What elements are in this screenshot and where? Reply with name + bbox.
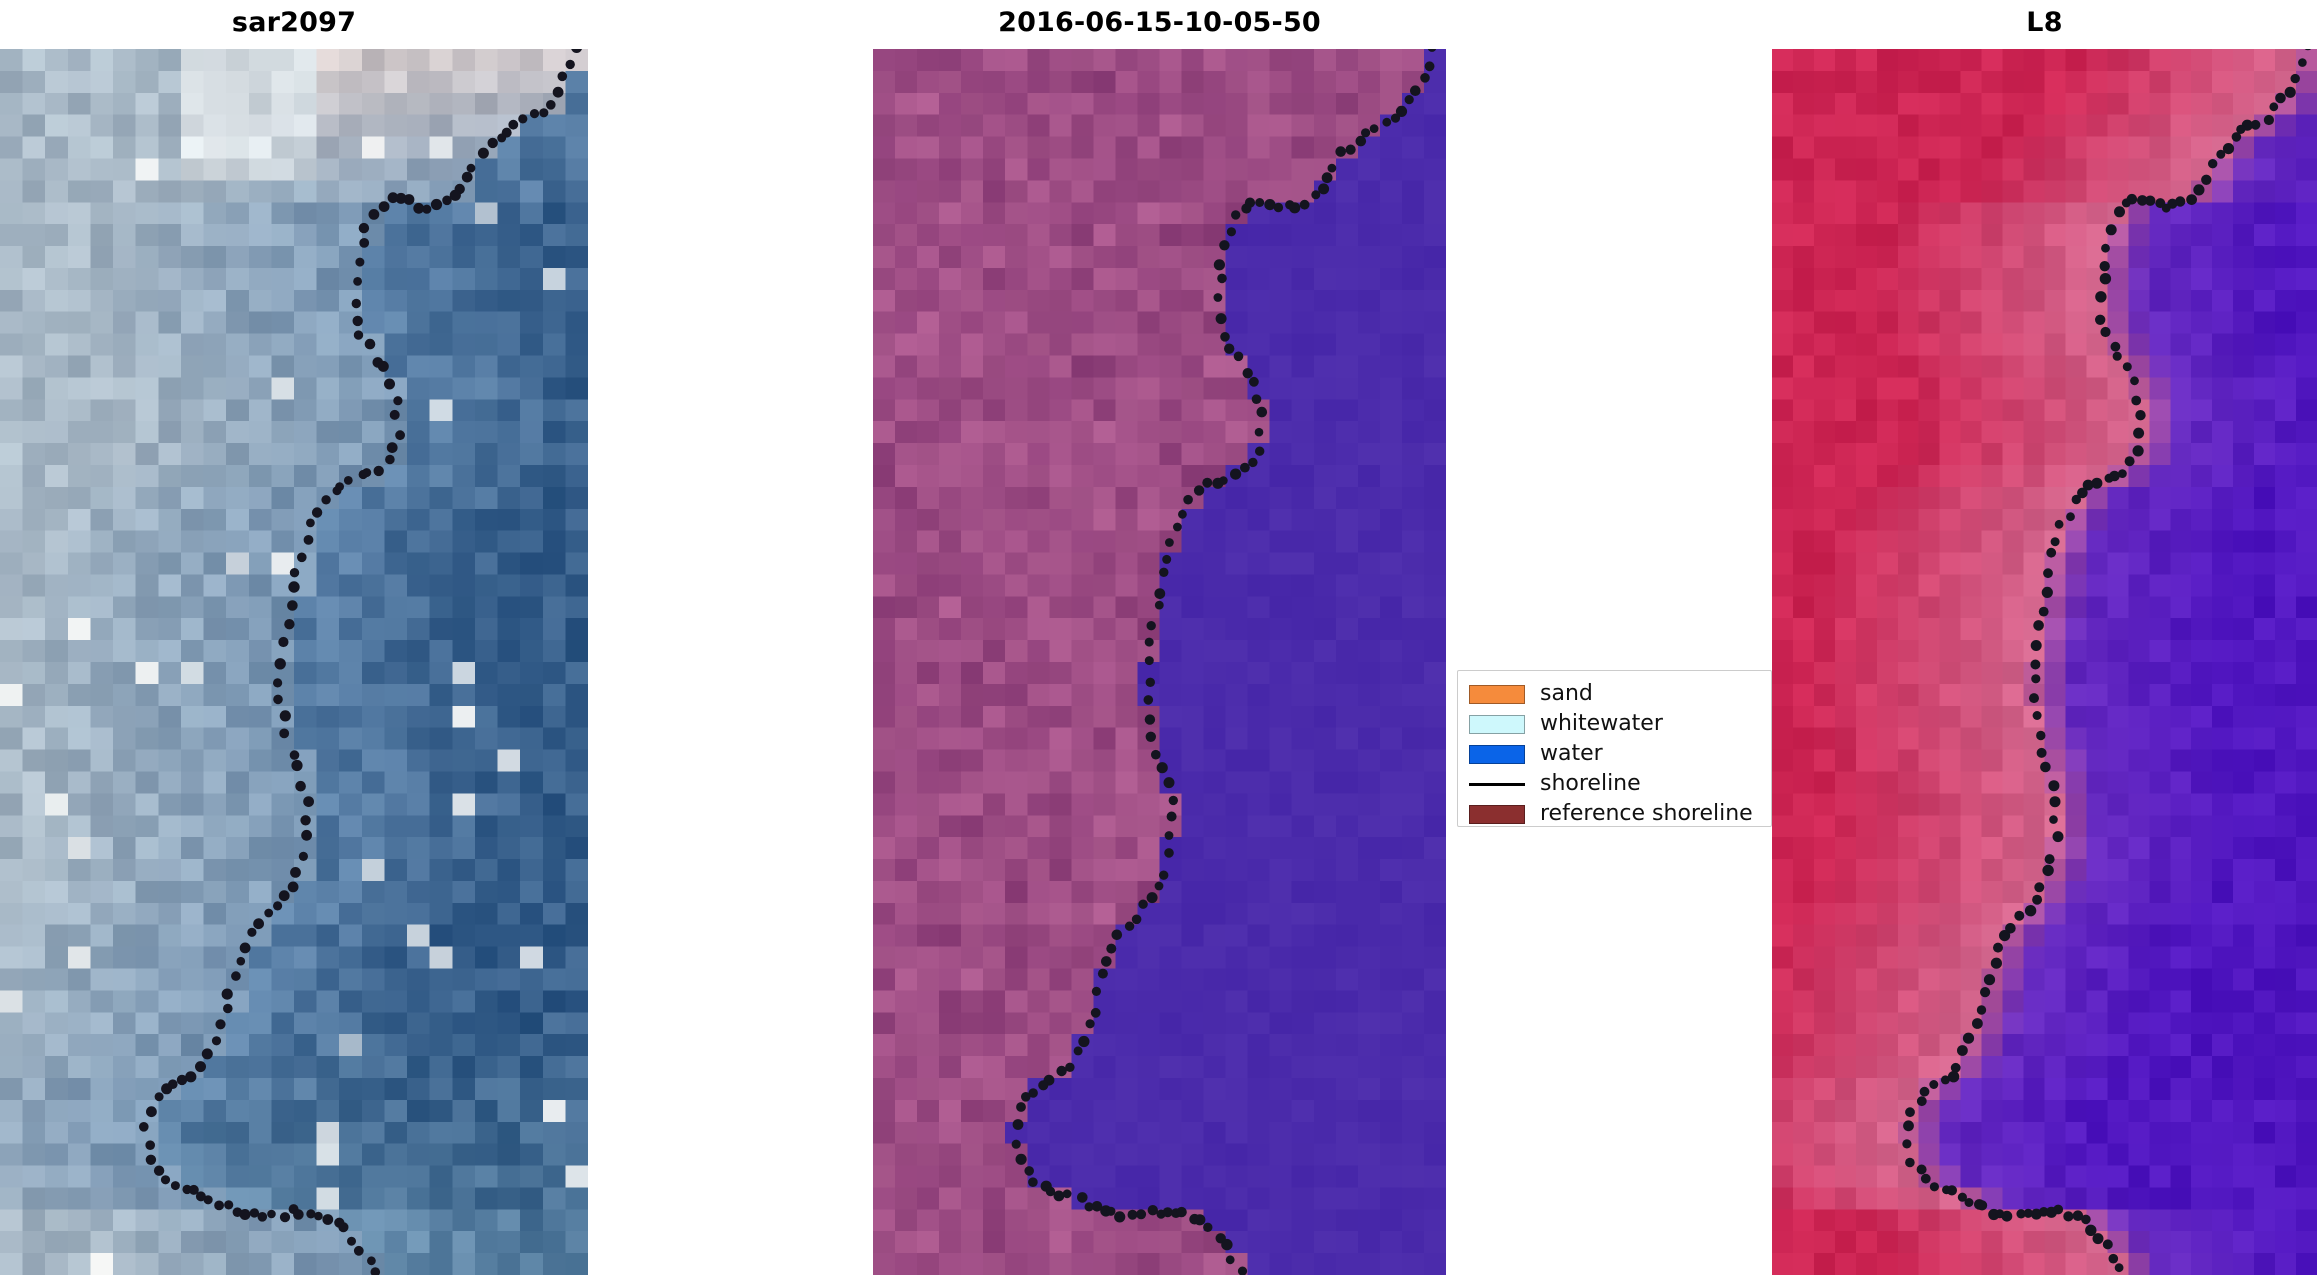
legend-label-whitewater: whitewater [1540,712,1663,736]
panel-classified-image [873,49,1446,1275]
figure-canvas: sar2097 2016-06-15-10-05-50 L8 sand whit… [0,0,2317,1283]
whitewater-swatch-icon [1469,715,1525,734]
legend-label-shoreline: shoreline [1540,772,1641,796]
sar-raster [0,49,588,1275]
panel-l8-image [1772,49,2317,1275]
sand-swatch-icon [1469,685,1525,704]
legend-item-sand: sand [1469,679,1761,709]
legend-item-whitewater: whitewater [1469,709,1761,739]
classified-raster [873,49,1446,1275]
legend-label-reference-shoreline: reference shoreline [1540,802,1753,826]
shoreline-line-icon [1469,775,1525,794]
legend-label-water: water [1540,742,1603,766]
legend-box: sand whitewater water shoreline referenc… [1457,670,1772,827]
panel-classified-title: 2016-06-15-10-05-50 [873,6,1446,40]
panel-sar2097: sar2097 [0,0,588,1283]
panel-sar2097-title: sar2097 [0,6,588,40]
legend-label-sand: sand [1540,682,1593,706]
panel-l8-title: L8 [1772,6,2317,40]
panel-l8: L8 [1772,0,2317,1283]
panel-sar2097-image [0,49,588,1275]
l8-raster [1772,49,2317,1275]
legend-item-water: water [1469,739,1761,769]
water-swatch-icon [1469,745,1525,764]
legend-item-reference-shoreline: reference shoreline [1469,799,1761,829]
legend-item-shoreline: shoreline [1469,769,1761,799]
reference-shoreline-swatch-icon [1469,805,1525,824]
panel-classified: 2016-06-15-10-05-50 [873,0,1446,1283]
